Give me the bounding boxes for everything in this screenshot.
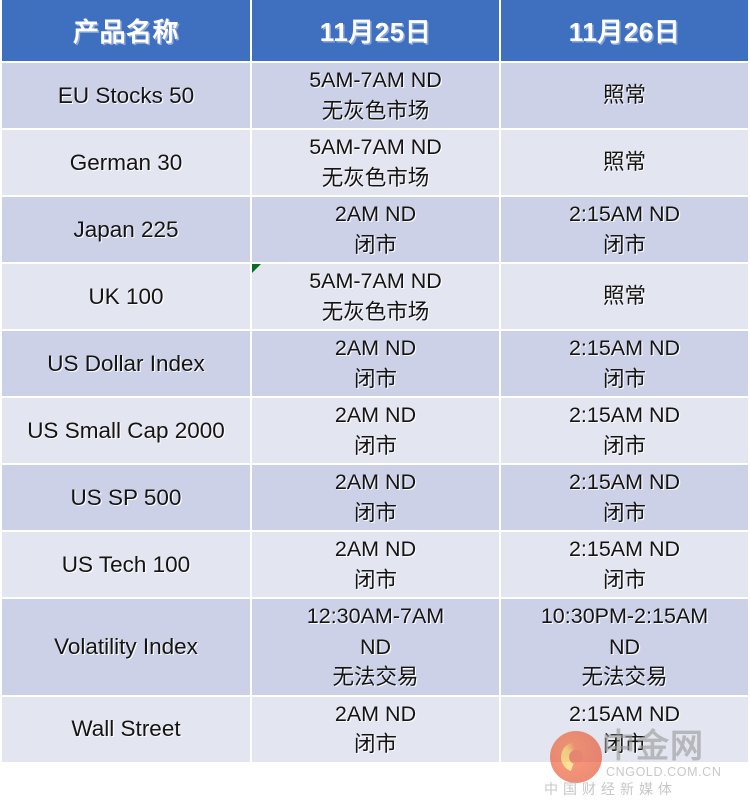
- cell-line: 照常: [505, 147, 744, 178]
- header-row: 产品名称11月25日11月26日: [0, 0, 750, 63]
- cell-line: 无灰色市场: [256, 96, 495, 127]
- product-name-cell: Volatility Index: [0, 599, 252, 697]
- cell-line: 无法交易: [256, 662, 495, 693]
- cell-lines: 10:30PM-2:15AMND无法交易: [505, 601, 744, 693]
- cell-lines: 12:30AM-7AMND无法交易: [256, 601, 495, 693]
- cell-line: 2:15AM ND: [505, 534, 744, 565]
- date-1126-cell: 2:15AM ND闭市: [501, 398, 750, 465]
- watermark-subtitle: 中国财经新媒体: [544, 779, 677, 799]
- cell-lines: 2:15AM ND闭市: [505, 400, 744, 461]
- cell-line: 2:15AM ND: [505, 467, 744, 498]
- cell-line: 5AM-7AM ND: [256, 132, 495, 163]
- cell-lines: 照常: [505, 147, 744, 178]
- cell-lines: 2AM ND闭市: [256, 467, 495, 528]
- product-name-cell: Japan 225: [0, 197, 252, 264]
- cell-lines: 2:15AM ND闭市: [505, 699, 744, 760]
- cell-lines: 照常: [505, 80, 744, 111]
- cell-line: 5AM-7AM ND: [256, 65, 495, 96]
- cell-line: 2:15AM ND: [505, 699, 744, 730]
- date-1125-cell: 2AM ND闭市: [252, 697, 501, 764]
- cell-line: 2AM ND: [256, 467, 495, 498]
- table-body: EU Stocks 505AM-7AM ND无灰色市场照常German 305A…: [0, 63, 750, 764]
- date-1125-cell: 12:30AM-7AMND无法交易: [252, 599, 501, 697]
- table-row: US Small Cap 20002AM ND闭市2:15AM ND闭市: [0, 398, 750, 465]
- date-1126-cell: 2:15AM ND闭市: [501, 697, 750, 764]
- date-1126-cell: 照常: [501, 63, 750, 130]
- cell-lines: 2AM ND闭市: [256, 699, 495, 760]
- date-1125-cell: 2AM ND闭市: [252, 532, 501, 599]
- cell-lines: 2:15AM ND闭市: [505, 467, 744, 528]
- cell-lines: 2AM ND闭市: [256, 333, 495, 394]
- cell-line: 闭市: [505, 729, 744, 760]
- column-header-product-name: 产品名称: [0, 0, 252, 63]
- trading-hours-table: 产品名称11月25日11月26日 EU Stocks 505AM-7AM ND无…: [0, 0, 750, 764]
- date-1125-cell: 2AM ND闭市: [252, 398, 501, 465]
- table-row: Volatility Index12:30AM-7AMND无法交易10:30PM…: [0, 599, 750, 697]
- cell-line: 闭市: [505, 431, 744, 462]
- cell-lines: 5AM-7AM ND无灰色市场: [256, 132, 495, 193]
- table-row: US SP 5002AM ND闭市2:15AM ND闭市: [0, 465, 750, 532]
- cell-line: 照常: [505, 281, 744, 312]
- date-1126-cell: 10:30PM-2:15AMND无法交易: [501, 599, 750, 697]
- cell-line: 12:30AM-7AM: [256, 601, 495, 632]
- date-1125-cell: 5AM-7AM ND无灰色市场: [252, 264, 501, 331]
- cell-line: 无灰色市场: [256, 297, 495, 328]
- table-row: US Tech 1002AM ND闭市2:15AM ND闭市: [0, 532, 750, 599]
- cell-lines: 2:15AM ND闭市: [505, 333, 744, 394]
- cell-line: 2AM ND: [256, 534, 495, 565]
- date-1126-cell: 照常: [501, 130, 750, 197]
- product-name-cell: US Dollar Index: [0, 331, 252, 398]
- product-name-cell: UK 100: [0, 264, 252, 331]
- table-row: EU Stocks 505AM-7AM ND无灰色市场照常: [0, 63, 750, 130]
- date-1126-cell: 2:15AM ND闭市: [501, 197, 750, 264]
- product-name-cell: US SP 500: [0, 465, 252, 532]
- cell-line: 2:15AM ND: [505, 400, 744, 431]
- cell-line: 无法交易: [505, 662, 744, 693]
- cell-line: 闭市: [505, 498, 744, 529]
- table-row: US Dollar Index2AM ND闭市2:15AM ND闭市: [0, 331, 750, 398]
- cell-line: 闭市: [505, 364, 744, 395]
- cell-line: 2AM ND: [256, 333, 495, 364]
- product-name-cell: US Tech 100: [0, 532, 252, 599]
- table-row: UK 1005AM-7AM ND无灰色市场照常: [0, 264, 750, 331]
- table-row: German 305AM-7AM ND无灰色市场照常: [0, 130, 750, 197]
- cell-lines: 2AM ND闭市: [256, 400, 495, 461]
- table-row: Wall Street2AM ND闭市2:15AM ND闭市: [0, 697, 750, 764]
- cell-line: 闭市: [256, 565, 495, 596]
- date-1126-cell: 照常: [501, 264, 750, 331]
- date-1126-cell: 2:15AM ND闭市: [501, 532, 750, 599]
- date-1125-cell: 2AM ND闭市: [252, 465, 501, 532]
- cell-lines: 照常: [505, 281, 744, 312]
- cell-line: 闭市: [256, 230, 495, 261]
- date-1125-cell: 5AM-7AM ND无灰色市场: [252, 63, 501, 130]
- product-name-cell: EU Stocks 50: [0, 63, 252, 130]
- cell-line: 闭市: [256, 431, 495, 462]
- table-header: 产品名称11月25日11月26日: [0, 0, 750, 63]
- cell-lines: 2:15AM ND闭市: [505, 199, 744, 260]
- cell-line: 闭市: [505, 565, 744, 596]
- cell-lines: 2:15AM ND闭市: [505, 534, 744, 595]
- cell-line: 2AM ND: [256, 699, 495, 730]
- cell-line: 2:15AM ND: [505, 199, 744, 230]
- cell-line: 闭市: [256, 729, 495, 760]
- table-row: Japan 2252AM ND闭市2:15AM ND闭市: [0, 197, 750, 264]
- date-1126-cell: 2:15AM ND闭市: [501, 331, 750, 398]
- cell-line: 无灰色市场: [256, 163, 495, 194]
- cell-line: 5AM-7AM ND: [256, 266, 495, 297]
- watermark-url: CNGOLD.COM.CN: [606, 765, 721, 779]
- cell-line: 2AM ND: [256, 400, 495, 431]
- cell-line: ND: [256, 632, 495, 663]
- column-header-date-1126: 11月26日: [501, 0, 750, 63]
- cell-lines: 2AM ND闭市: [256, 199, 495, 260]
- cell-lines: 2AM ND闭市: [256, 534, 495, 595]
- cell-line: 照常: [505, 80, 744, 111]
- date-1125-cell: 2AM ND闭市: [252, 331, 501, 398]
- product-name-cell: Wall Street: [0, 697, 252, 764]
- cell-line: 闭市: [256, 498, 495, 529]
- cell-line: 2AM ND: [256, 199, 495, 230]
- cell-line: 2:15AM ND: [505, 333, 744, 364]
- cell-lines: 5AM-7AM ND无灰色市场: [256, 65, 495, 126]
- cell-line: ND: [505, 632, 744, 663]
- cell-line: 闭市: [505, 230, 744, 261]
- cell-lines: 5AM-7AM ND无灰色市场: [256, 266, 495, 327]
- cell-line: 闭市: [256, 364, 495, 395]
- date-1126-cell: 2:15AM ND闭市: [501, 465, 750, 532]
- product-name-cell: German 30: [0, 130, 252, 197]
- column-header-date-1125: 11月25日: [252, 0, 501, 63]
- date-1125-cell: 5AM-7AM ND无灰色市场: [252, 130, 501, 197]
- product-name-cell: US Small Cap 2000: [0, 398, 252, 465]
- date-1125-cell: 2AM ND闭市: [252, 197, 501, 264]
- cell-line: 10:30PM-2:15AM: [505, 601, 744, 632]
